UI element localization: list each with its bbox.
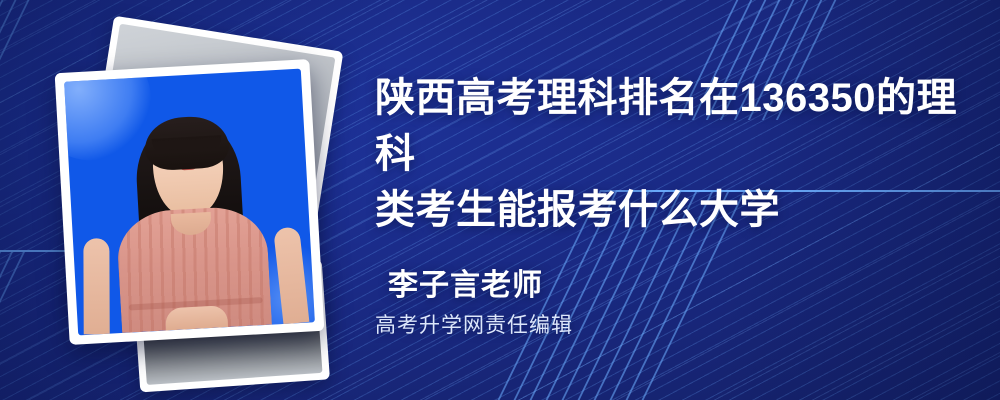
photo-card-front (55, 59, 325, 345)
arm-right (273, 226, 309, 324)
banner-title-line-2: 类考生能报考什么大学 (375, 182, 960, 238)
banner-title: 陕西高考理科排名在136350的理科 类考生能报考什么大学 (375, 70, 960, 238)
banner-text-block: 陕西高考理科排名在136350的理科 类考生能报考什么大学 李子言老师 高考升学… (375, 0, 975, 400)
author-byline: 李子言老师 高考升学网责任编辑 (388, 268, 573, 339)
photo-card-stack (52, 28, 362, 368)
arm-left (83, 238, 109, 334)
author-name: 李子言老师 (388, 268, 573, 304)
article-banner: 陕西高考理科排名在136350的理科 类考生能报考什么大学 李子言老师 高考升学… (0, 0, 1000, 400)
hands (164, 305, 227, 330)
portrait-photo (64, 69, 315, 336)
banner-title-line-1: 陕西高考理科排名在136350的理科 (375, 70, 960, 182)
hair-front (143, 115, 230, 172)
portrait-person (64, 69, 315, 336)
author-role: 高考升学网责任编辑 (375, 313, 573, 339)
